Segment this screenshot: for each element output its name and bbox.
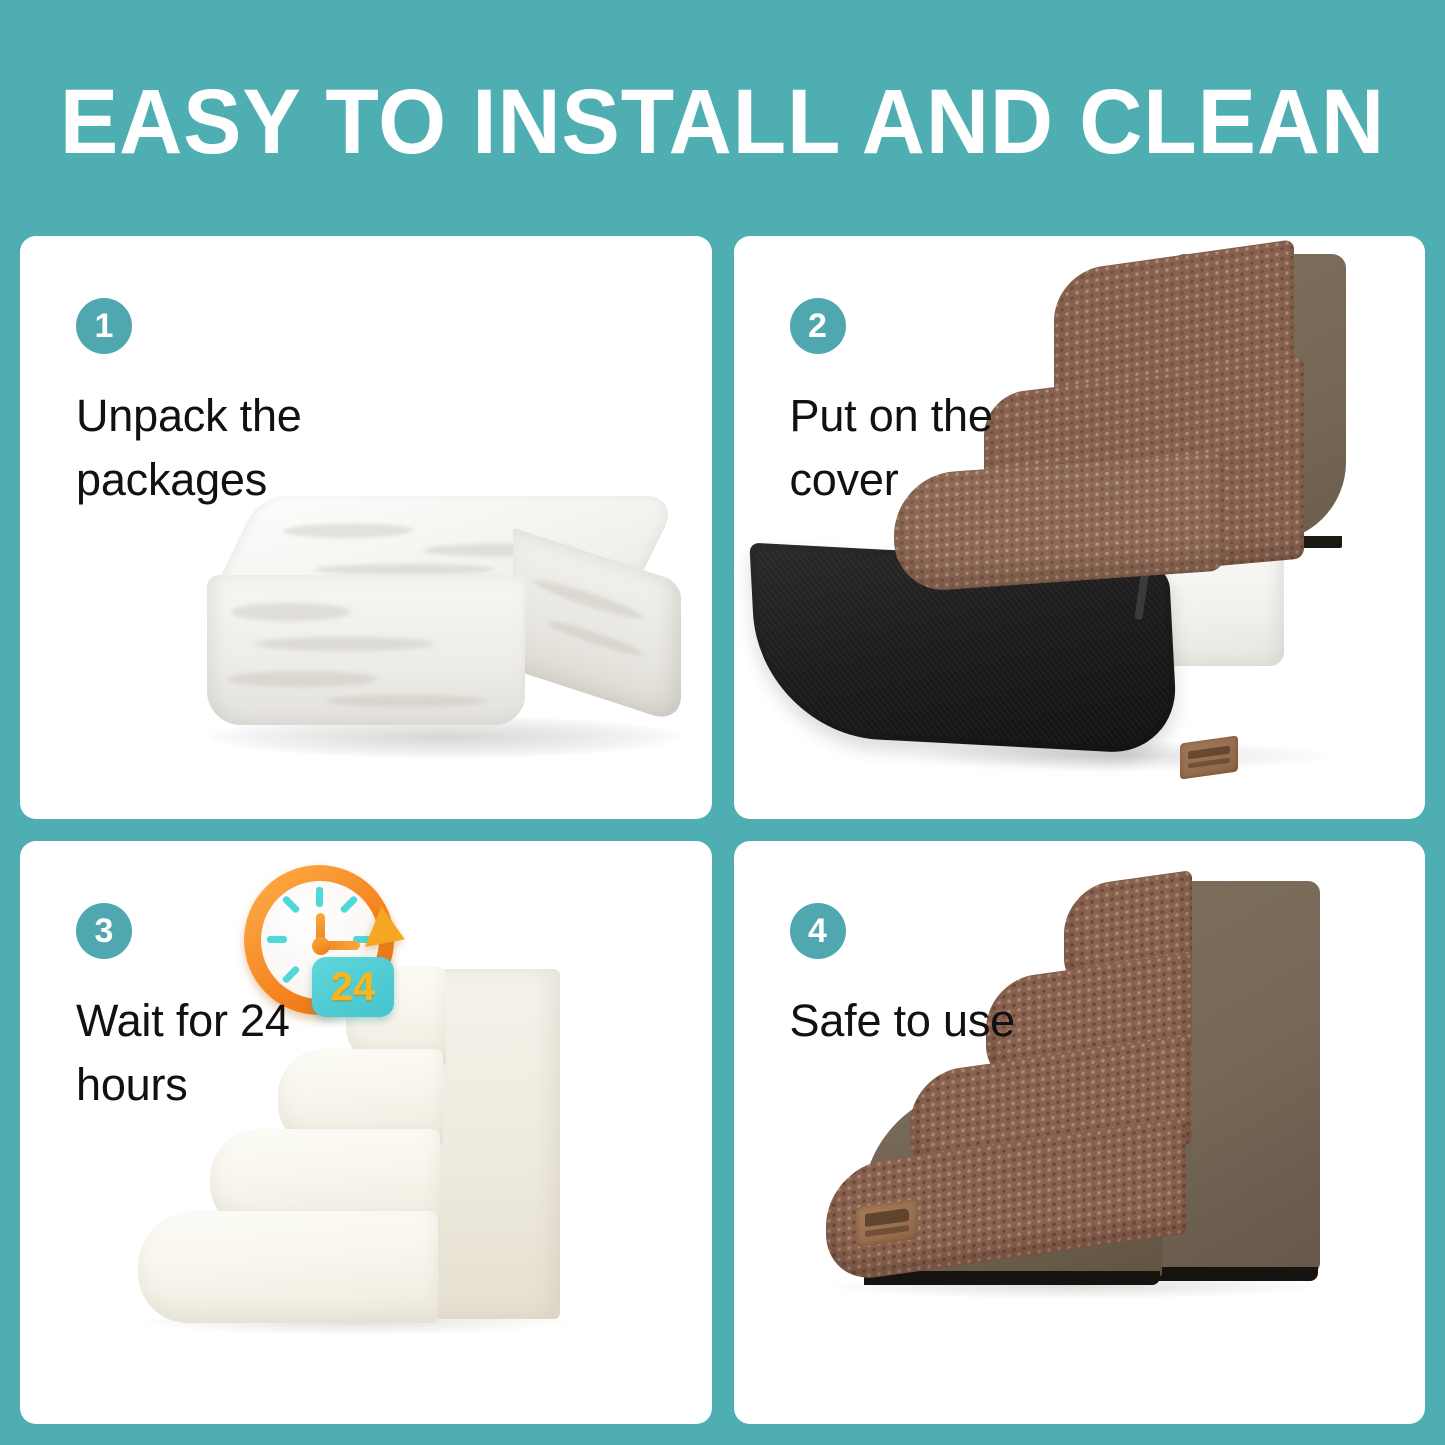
wrapped-package	[195, 491, 695, 741]
foam-step-2	[210, 1129, 440, 1229]
product-shadow	[914, 741, 1334, 771]
brand-logo-text	[865, 1225, 909, 1237]
infographic-page: EASY TO INSTALL AND CLEAN	[0, 0, 1445, 1445]
clock-rotation-arrow-icon	[365, 906, 413, 960]
step-caption-4: Safe to use	[790, 989, 1090, 1053]
step-badge-4: 4	[790, 903, 846, 959]
clock-face	[261, 881, 379, 999]
steps-grid: 1 Unpack the packages	[20, 236, 1425, 1424]
brand-logo-mark	[865, 1208, 909, 1227]
step-card-2: 2 Put on the cover	[734, 236, 1426, 819]
step-caption-3: Wait for 24 hours	[76, 989, 376, 1117]
package-front-face	[207, 575, 525, 725]
exposed-white-foam	[1134, 536, 1284, 666]
step-badge-1: 1	[76, 298, 132, 354]
header-banner: EASY TO INSTALL AND CLEAN	[0, 0, 1445, 236]
step-caption-1: Unpack the packages	[76, 384, 376, 512]
step-card-1: 1 Unpack the packages	[20, 236, 712, 819]
product-front-skirt	[862, 1087, 1162, 1277]
foam-side-face	[420, 969, 560, 1319]
product-side-panel	[1136, 881, 1320, 1273]
product-shadow	[824, 1273, 1324, 1299]
product-step-1	[826, 1118, 1186, 1285]
black-nonslip-mat	[749, 543, 1178, 756]
brand-logo-mark	[1188, 746, 1230, 760]
brand-leather-patch	[1180, 735, 1238, 779]
clock-center-pivot	[312, 937, 330, 955]
brand-leather-patch	[856, 1199, 918, 1248]
page-title: EASY TO INSTALL AND CLEAN	[60, 68, 1385, 168]
step-badge-3: 3	[76, 903, 132, 959]
cover-side-panel	[1174, 254, 1346, 542]
step-card-4: 4 Safe to use	[734, 841, 1426, 1424]
product-step-2	[910, 1035, 1192, 1183]
package-side-face	[513, 528, 681, 725]
step-badge-2: 2	[790, 298, 846, 354]
cover-zipper	[1134, 566, 1149, 621]
cover-tread-top	[1054, 239, 1294, 423]
brand-logo-text	[1188, 758, 1230, 769]
package-top-face	[206, 496, 680, 606]
product-step-4	[1064, 870, 1192, 998]
foam-step-1	[138, 1211, 438, 1323]
clock-minute-hand	[318, 941, 360, 950]
foam-shadow	[140, 1309, 570, 1335]
step-caption-2: Put on the cover	[790, 384, 1090, 512]
clock-hour-hand	[316, 913, 325, 947]
step-card-3: 24 3 Wait for 24 hours	[20, 841, 712, 1424]
package-shadow	[210, 716, 680, 758]
